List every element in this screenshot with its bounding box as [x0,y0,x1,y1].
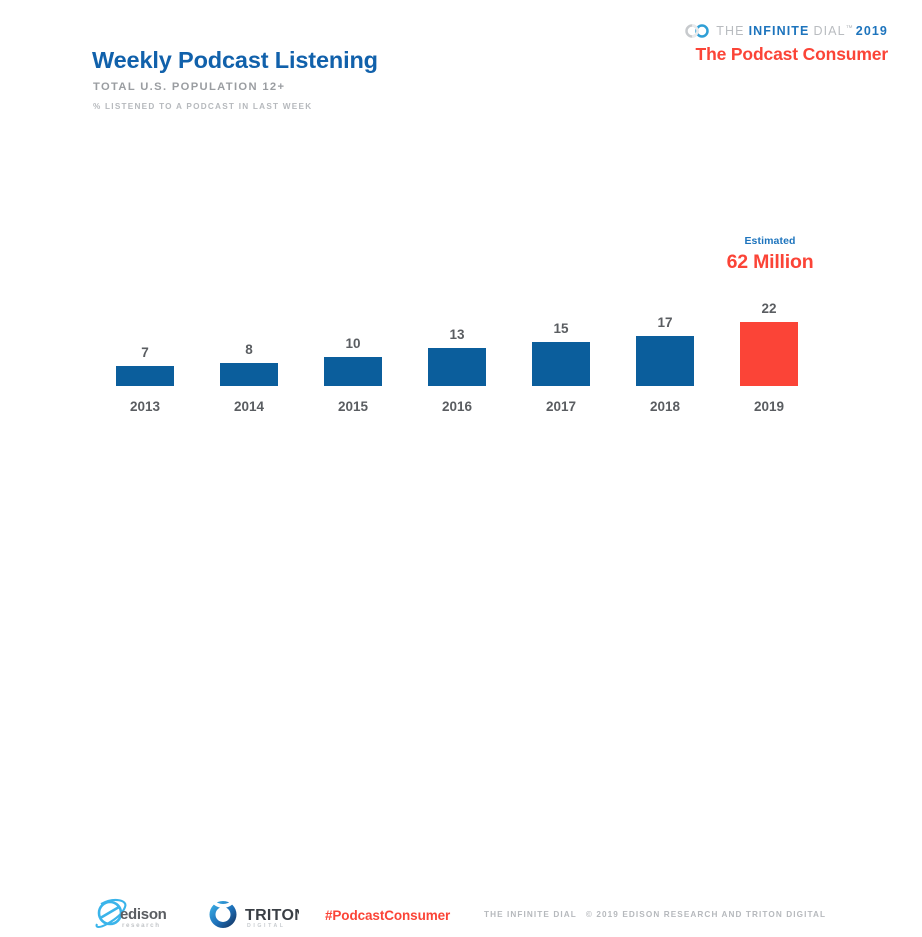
bar-2019[interactable] [740,322,798,386]
bar-2017[interactable] [532,342,590,386]
bar-value-label: 10 [301,337,405,351]
x-axis-label-2015: 2015 [301,400,405,414]
estimated-audience-callout: Estimated 62 Million [718,236,822,272]
bar-value-label: 7 [93,346,197,360]
bar-value-label: 13 [405,328,509,342]
footer: edison research TRITON DIGITAL #PodcastC… [0,446,922,516]
callout-value: 62 Million [718,253,822,273]
x-axis-label-2013: 2013 [93,400,197,414]
edison-subwordmark: research [122,922,161,929]
credit-left: THE INFINITE DIAL [484,910,577,919]
bar-value-label: 15 [509,322,613,336]
bar-value-label: 17 [613,316,717,330]
bar-2013[interactable] [116,366,174,386]
triton-wordmark: TRITON [245,907,299,924]
bar-2016[interactable] [428,348,486,386]
bar-group-2016: 132016 [405,0,509,516]
bar-2015[interactable] [324,357,382,386]
triton-subwordmark: DIGITAL [247,923,286,929]
bar-group-2013: 72013 [93,0,197,516]
callout-kicker: Estimated [718,236,822,247]
bar-group-2018: 172018 [613,0,717,516]
hashtag-label: #PodcastConsumer [325,909,450,923]
edison-wordmark: edison [120,906,167,923]
x-axis-label-2014: 2014 [197,400,301,414]
bar-group-2014: 82014 [197,0,301,516]
bar-2018[interactable] [636,336,694,386]
x-axis-label-2019: 2019 [717,400,821,414]
triton-digital-logo-icon: TRITON DIGITAL [207,898,299,937]
bar-value-label: 22 [717,302,821,316]
edison-research-logo-icon: edison research [94,898,172,937]
x-axis-label-2016: 2016 [405,400,509,414]
copyright-credit: THE INFINITE DIAL© 2019 EDISON RESEARCH … [484,911,826,919]
bar-value-label: 8 [197,343,301,357]
bar-group-2017: 152017 [509,0,613,516]
bar-group-2015: 102015 [301,0,405,516]
credit-right: © 2019 EDISON RESEARCH AND TRITON DIGITA… [586,910,826,919]
x-axis-label-2017: 2017 [509,400,613,414]
x-axis-label-2018: 2018 [613,400,717,414]
bar-2014[interactable] [220,363,278,386]
